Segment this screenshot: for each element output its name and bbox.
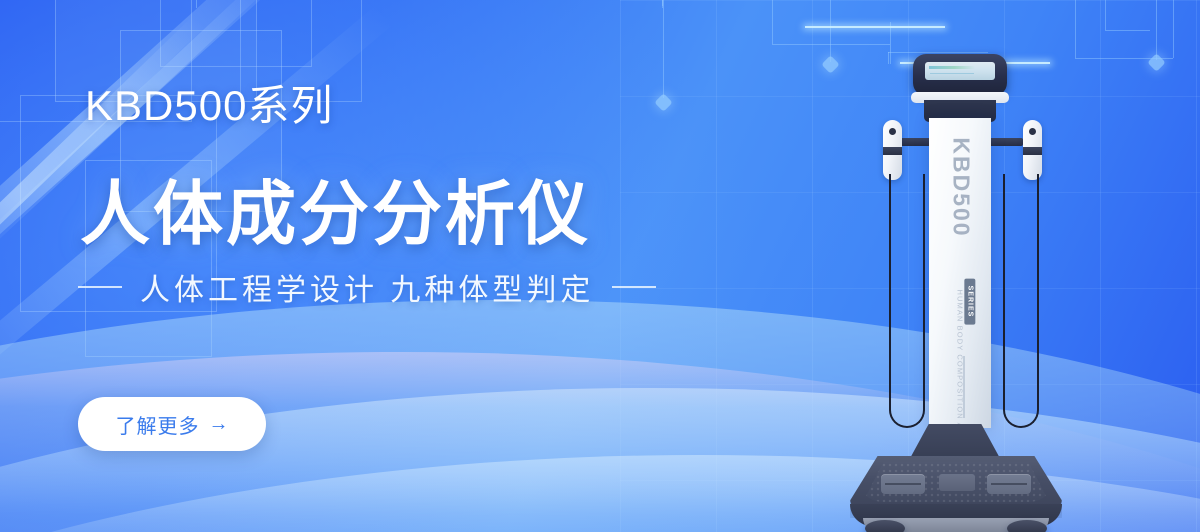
handle-sensor-dot-right (1029, 128, 1036, 135)
body-composition-analyzer-device: KBD500 SERIES HUMAN BODY COMPOSITION ANA… (845, 42, 1145, 520)
device-foot-pad-right (987, 474, 1031, 494)
device-cable-right (1003, 174, 1039, 428)
learn-more-button[interactable]: 了解更多 → (78, 397, 266, 451)
product-hero-banner: KBD500系列 人体成分分析仪 人体工程学设计 九种体型判定 了解更多 → (0, 0, 1200, 532)
hero-text-content: KBD500系列 人体成分分析仪 人体工程学设计 九种体型判定 了解更多 → (0, 0, 720, 532)
foot-pad-line-right (991, 483, 1027, 485)
dash-left-decoration (78, 286, 122, 288)
learn-more-label: 了解更多 (116, 410, 200, 439)
feature-subtitle: 人体工程学设计 九种体型判定 (140, 265, 594, 309)
dash-right-decoration (612, 286, 656, 288)
handle-band-right (1023, 147, 1042, 155)
device-foot-pad-left (881, 474, 925, 494)
device-column: KBD500 SERIES HUMAN BODY COMPOSITION ANA… (929, 118, 991, 428)
arrow-right-icon: → (209, 414, 229, 434)
device-foot-right (1007, 520, 1047, 532)
device-handle-left (883, 120, 902, 180)
page-title: 人体成分分析仪 (80, 179, 591, 249)
device-handle-right (1023, 120, 1042, 180)
handle-sensor-dot-left (889, 128, 896, 135)
device-arm-right (987, 138, 1023, 146)
foot-pad-line-left (885, 483, 921, 485)
device-arm-left (897, 138, 933, 146)
device-cable-left (889, 174, 925, 428)
device-series-badge: SERIES (964, 279, 975, 325)
device-display-bezel (913, 54, 1007, 96)
device-screen-content (929, 66, 975, 69)
feature-subtitle-row: 人体工程学设计 九种体型判定 (78, 265, 656, 309)
product-series-label: KBD500系列 (85, 72, 333, 133)
handle-band-left (883, 147, 902, 155)
device-center-plate (939, 474, 975, 491)
device-display-screen (925, 62, 995, 80)
device-brand-text: KBD500 (948, 133, 975, 243)
device-accent-rule (963, 356, 965, 418)
device-foot-left (865, 520, 905, 532)
